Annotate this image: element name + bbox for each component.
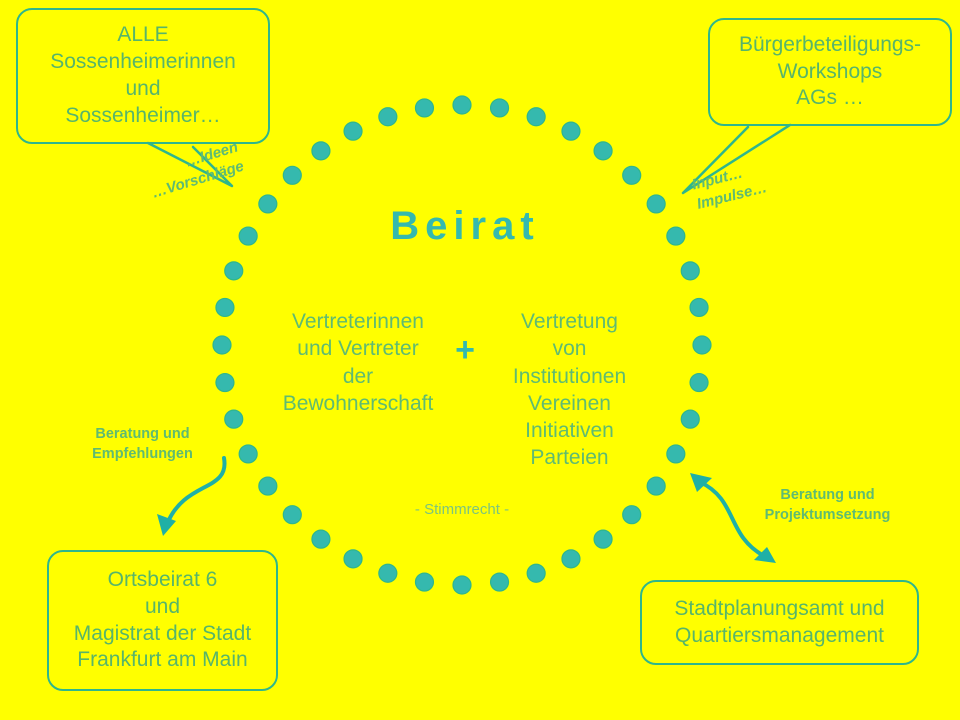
- ring-dot: [259, 195, 277, 213]
- ring-dot: [491, 573, 509, 591]
- ring-dot: [213, 336, 231, 354]
- ring-dot: [527, 564, 545, 582]
- ring-dot: [225, 262, 243, 280]
- ring-dot: [415, 99, 433, 117]
- ring-dot: [562, 550, 580, 568]
- center-column-residents: Vertreterinnen und Vertreter der Bewohne…: [268, 308, 448, 417]
- label-beratung-projektumsetzung: Beratung und Projektumsetzung: [745, 486, 910, 525]
- ring-dot: [491, 99, 509, 117]
- ring-dot: [681, 262, 699, 280]
- ring-dot: [681, 410, 699, 428]
- ring-dot: [283, 166, 301, 184]
- box-ortsbeirat-magistrat[interactable]: Ortsbeirat 6 und Magistrat der Stadt Fra…: [47, 550, 278, 691]
- ring-dot: [453, 96, 471, 114]
- ring-dot: [623, 166, 641, 184]
- ring-dot: [239, 445, 257, 463]
- ring-dot: [312, 142, 330, 160]
- page-title: Beirat: [330, 200, 600, 252]
- diagram-canvas: ALLE Sossenheimerinnen und Sossenheimer……: [0, 0, 960, 720]
- ring-dot: [690, 374, 708, 392]
- ring-dot: [239, 227, 257, 245]
- ring-dot: [667, 445, 685, 463]
- ring-dot: [225, 410, 243, 428]
- ring-dot: [344, 550, 362, 568]
- ring-dot: [344, 122, 362, 140]
- ring-dot: [527, 108, 545, 126]
- ring-dot: [259, 477, 277, 495]
- ring-dot: [312, 530, 330, 548]
- ring-dot: [693, 336, 711, 354]
- ring-dot: [216, 298, 234, 316]
- arrow-beratung-empfehlungen: [167, 458, 225, 524]
- ring-dot: [647, 477, 665, 495]
- ring-dot: [594, 142, 612, 160]
- bubble-participation-workshops-text: Bürgerbeteiligungs- Workshops AGs …: [739, 32, 921, 113]
- plus-icon: +: [443, 328, 487, 372]
- ring-dot: [415, 573, 433, 591]
- ring-dot: [379, 108, 397, 126]
- ring-dot: [594, 530, 612, 548]
- ring-dot: [216, 374, 234, 392]
- ring-dot: [453, 576, 471, 594]
- ring-dot: [647, 195, 665, 213]
- center-column-institutions: Vertretung von Institutionen Vereinen In…: [482, 308, 657, 472]
- label-beratung-empfehlungen: Beratung und Empfehlungen: [70, 425, 215, 464]
- box-stadtplanungsamt-quartiersmanagement-text: Stadtplanungsamt und Quartiersmanagement: [674, 596, 884, 650]
- ring-dot: [379, 564, 397, 582]
- bubble-all-residents-text: ALLE Sossenheimerinnen und Sossenheimer…: [50, 22, 236, 130]
- box-stadtplanungsamt-quartiersmanagement[interactable]: Stadtplanungsamt und Quartiersmanagement: [640, 580, 919, 665]
- bubble-participation-workshops[interactable]: Bürgerbeteiligungs- Workshops AGs …: [708, 18, 952, 126]
- ring-dot: [562, 122, 580, 140]
- ring-dot: [623, 506, 641, 524]
- arrow-head-left: [157, 514, 176, 536]
- ring-dot: [283, 506, 301, 524]
- ring-dot: [667, 227, 685, 245]
- box-ortsbeirat-magistrat-text: Ortsbeirat 6 und Magistrat der Stadt Fra…: [74, 567, 251, 675]
- ring-dot: [690, 298, 708, 316]
- voting-rights-note: - Stimmrecht -: [367, 500, 557, 520]
- bubble-all-residents[interactable]: ALLE Sossenheimerinnen und Sossenheimer…: [16, 8, 270, 144]
